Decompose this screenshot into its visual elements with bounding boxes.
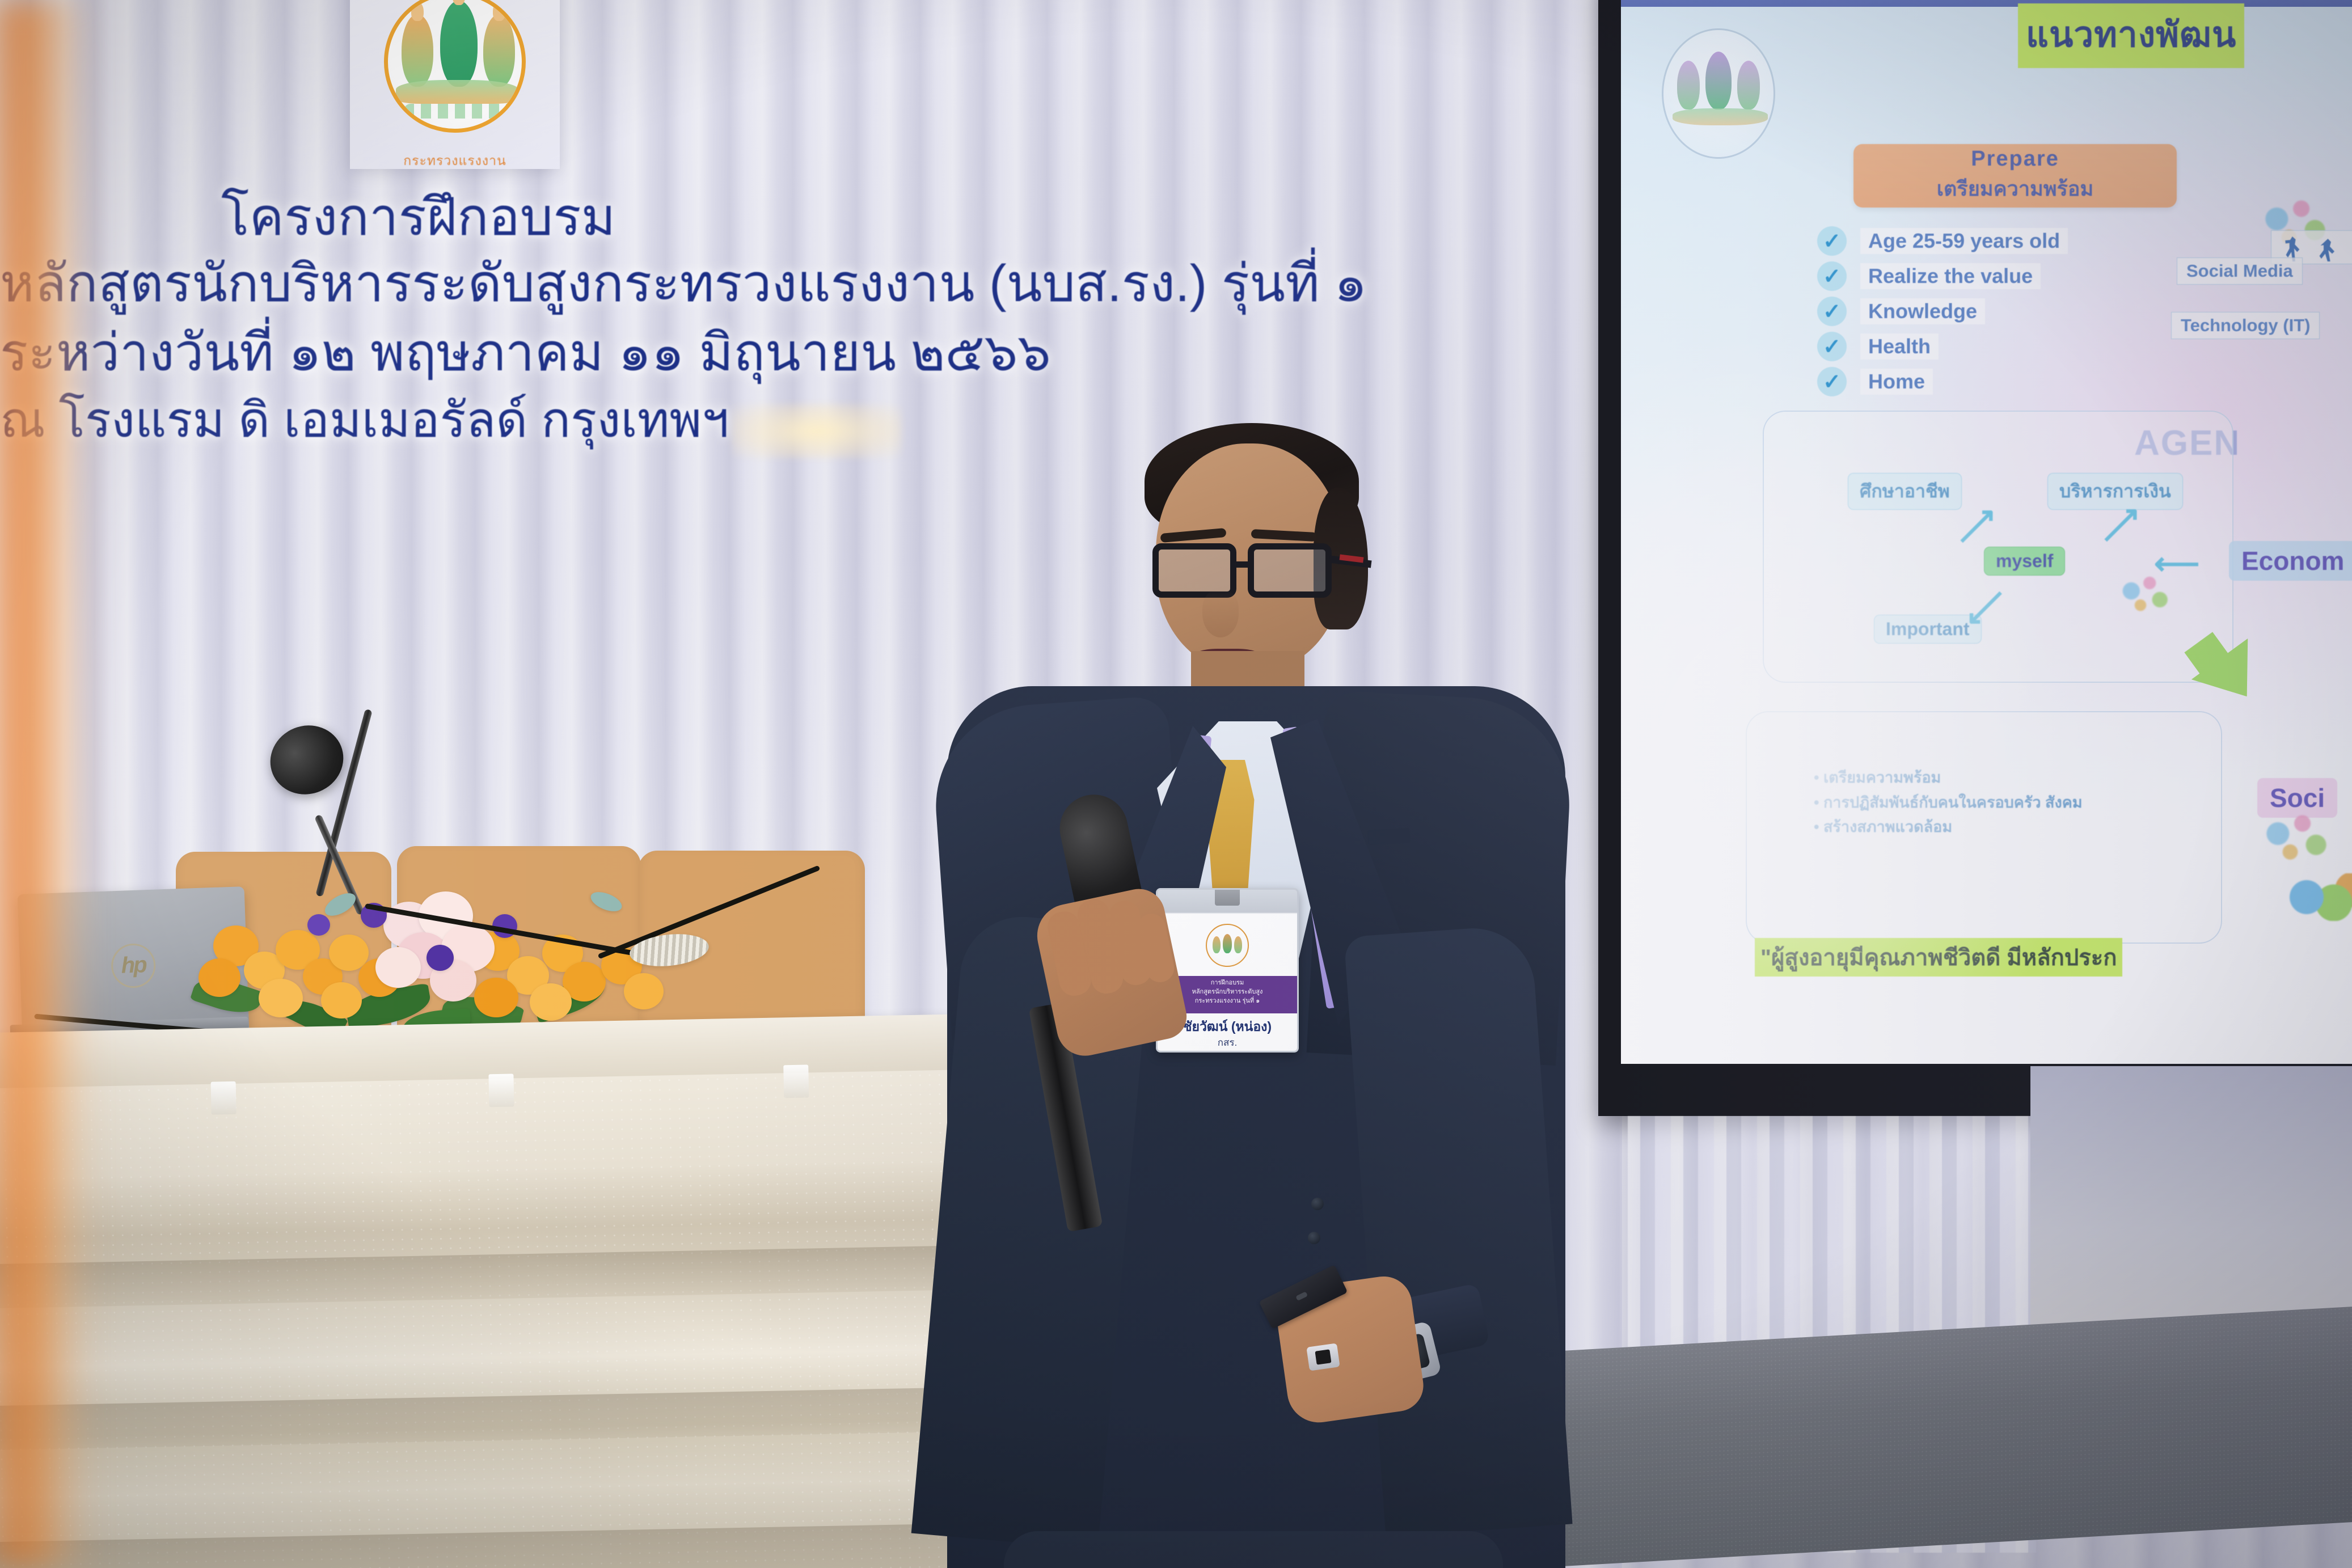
diagram-node-career: ศึกษาอาชีพ <box>1848 473 1962 510</box>
slide-decoration-icon <box>2263 813 2331 864</box>
signet-ring <box>1306 1343 1340 1371</box>
check-icon: ✓ <box>1817 226 1847 256</box>
emblem-caption: กระทรวงแรงงาน <box>350 151 560 171</box>
badge-org: กสร. <box>1158 1035 1297 1050</box>
checklist-label: Realize the value <box>1860 263 2041 289</box>
vision-graphic-icon <box>2281 873 2352 921</box>
nose <box>1202 590 1239 637</box>
slide-decoration-icon <box>2120 575 2171 615</box>
slide-title: แนวทางพัฒน <box>2018 3 2244 68</box>
pill-social-media: Social Media <box>2177 257 2303 285</box>
banner-line-3: ระหว่างวันที่ ๑๒ พฤษภาคม ๑๑ มิถุนายน ๒๕๖… <box>0 323 1304 383</box>
pill-technology: Technology (IT) <box>2171 312 2320 339</box>
ministry-emblem-card: กระทรวงแรงงาน <box>350 0 560 169</box>
bullet-item: • การปฏิสัมพันธ์กับคนในครอบครัว สังคม <box>1814 791 2165 815</box>
hp-logo-icon: hp <box>111 943 157 988</box>
block-economic: Econom <box>2229 541 2352 581</box>
badge-emblem-icon <box>1206 924 1249 967</box>
trousers <box>1004 1531 1503 1568</box>
event-banner-text: โครงการฝึกอบรม หลักสูตรนักบริหารระดับสูง… <box>0 187 1304 449</box>
speaker: การฝึกอบรม หลักสูตรนักบริหารระดับสูง กระ… <box>907 420 1611 1568</box>
slide-checklist: ✓ Age 25-59 years old ✓ Realize the valu… <box>1817 223 2316 399</box>
prepare-box: Prepare เตรียมความพร้อม <box>1853 144 2177 208</box>
checklist-label: Age 25-59 years old <box>1860 228 2068 254</box>
breast-pocket <box>1367 828 1410 845</box>
bullet-item: • เตรียมความพร้อม <box>1814 766 2165 791</box>
eyeglasses-icon <box>1152 543 1340 602</box>
orange-light-streak <box>0 0 91 1568</box>
checklist-label: Knowledge <box>1860 298 1985 324</box>
check-icon: ✓ <box>1817 332 1847 361</box>
banner-line-1: โครงการฝึกอบรม <box>0 187 1304 248</box>
checklist-item: ✓ Age 25-59 years old <box>1817 223 2316 259</box>
slide-bullets: • เตรียมความพร้อม • การปฏิสัมพันธ์กับคนใ… <box>1814 766 2165 840</box>
slide-quote: "ผู้สูงอายุมีคุณภาพชีวิตดี มีหลักประก <box>1755 938 2122 977</box>
check-icon: ✓ <box>1817 367 1847 396</box>
check-icon: ✓ <box>1817 297 1847 326</box>
bullet-item: • สร้างสภาพแวดล้อม <box>1814 815 2165 840</box>
conference-photo-scene: แนวทางพัฒน Prepare เตรียมความพร้อม ✓ Age… <box>0 0 2352 1568</box>
banner-line-2: หลักสูตรนักบริหารระดับสูงกระทรวงแรงงาน (… <box>0 253 1304 314</box>
prepare-label-en: Prepare <box>1971 147 2059 171</box>
presentation-slide: แนวทางพัฒน Prepare เตรียมความพร้อม ✓ Age… <box>1621 0 2352 1064</box>
diagram-node-myself: myself <box>1984 547 2065 576</box>
badge-clip-icon <box>1215 888 1240 906</box>
projection-screen-frame: แนวทางพัฒน Prepare เตรียมความพร้อม ✓ Age… <box>1598 0 2352 1116</box>
checklist-label: Home <box>1860 369 1933 395</box>
check-icon: ✓ <box>1817 261 1847 291</box>
prepare-label-th: เตรียมความพร้อม <box>1937 172 2094 205</box>
stage-floor <box>1531 1307 2352 1568</box>
projection-screen-surface: แนวทางพัฒน Prepare เตรียมความพร้อม ✓ Age… <box>1621 0 2352 1064</box>
ministry-emblem-icon <box>384 0 526 133</box>
block-social: Soci <box>2257 778 2337 818</box>
checklist-item: ✓ Home <box>1817 364 2316 399</box>
checklist-label: Health <box>1860 333 1939 360</box>
ministry-emblem-slide-icon <box>1662 28 1775 159</box>
